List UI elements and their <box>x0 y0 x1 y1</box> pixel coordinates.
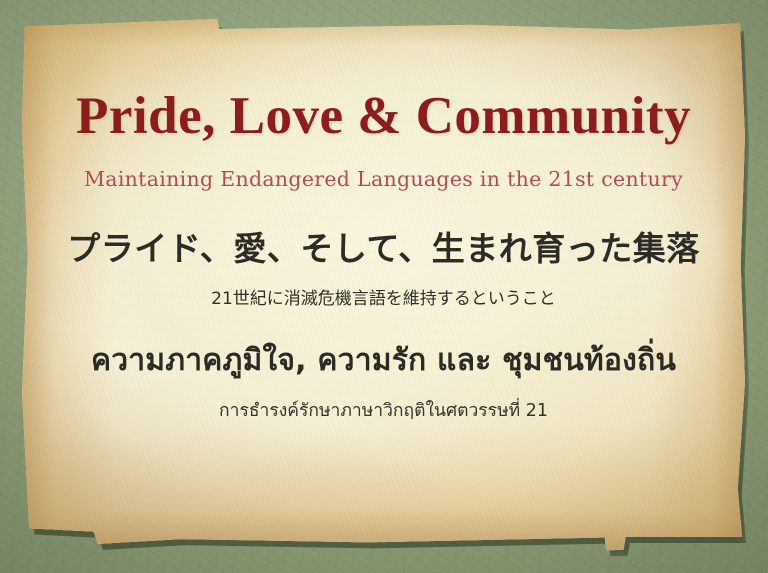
japanese-subheading: 21世紀に消滅危機言語を維持するということ <box>211 284 556 309</box>
slide-title: Pride, Love & Community <box>76 89 691 145</box>
thai-heading: ความภาคภูมิใจ, ความรัก และ ชุมชนท้องถิ่น <box>91 337 676 384</box>
thai-subheading: การธำรงค์รักษาภาษาวิกฤติในศตวรรษที่ 21 <box>219 396 548 424</box>
slide-content: Pride, Love & Community Maintaining Enda… <box>22 19 745 553</box>
slide-subtitle: Maintaining Endangered Languages in the … <box>84 167 683 191</box>
presentation-slide: Pride, Love & Community Maintaining Enda… <box>0 0 768 573</box>
japanese-heading: プライド、愛、そして、生まれ育った集落 <box>67 222 700 270</box>
